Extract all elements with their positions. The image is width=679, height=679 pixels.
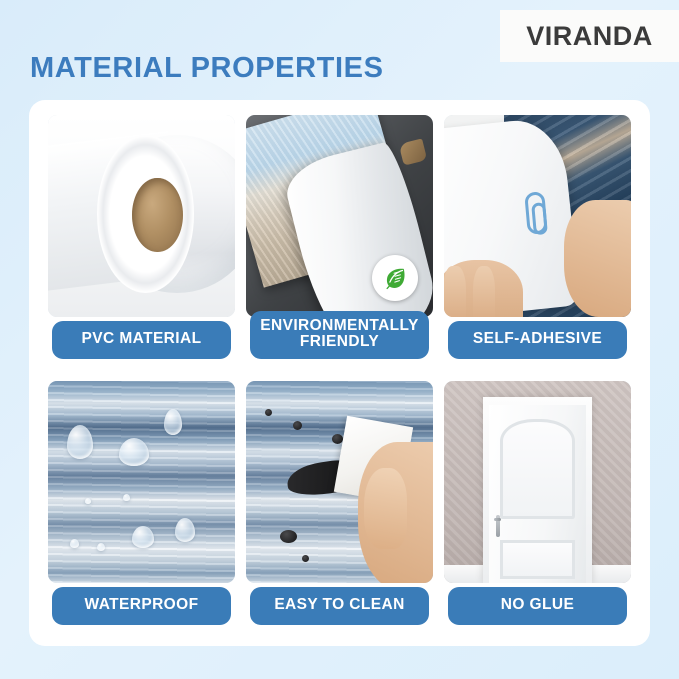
self-adhesive-image bbox=[444, 115, 631, 317]
water-drop bbox=[119, 438, 149, 466]
easy-clean-image bbox=[246, 381, 433, 583]
door-panel-bottom bbox=[500, 540, 574, 579]
page-title: MATERIAL PROPERTIES bbox=[30, 52, 384, 85]
door-leaf bbox=[489, 405, 587, 583]
pvc-roll-image bbox=[48, 115, 235, 317]
feature-card: SELF-ADHESIVE bbox=[444, 115, 631, 365]
feature-card: WATERPROOF bbox=[48, 381, 235, 631]
adhesive-peel-art bbox=[444, 115, 631, 317]
water-drop bbox=[123, 494, 130, 501]
stain-dot bbox=[332, 434, 343, 444]
feature-card: ENVIRONMENTALLY FRIENDLY bbox=[246, 115, 433, 365]
stain-dot bbox=[265, 409, 272, 416]
water-drop bbox=[97, 543, 105, 551]
door-panel-top bbox=[500, 419, 574, 519]
feature-label: WATERPROOF bbox=[52, 587, 231, 625]
pvc-roll-art bbox=[48, 115, 235, 317]
water-drop bbox=[164, 409, 182, 435]
stain-dot bbox=[293, 421, 302, 430]
feature-label: SELF-ADHESIVE bbox=[448, 321, 627, 359]
feature-label: ENVIRONMENTALLY FRIENDLY bbox=[250, 311, 429, 359]
peeling-print-art bbox=[246, 115, 433, 317]
water-drop bbox=[70, 539, 79, 548]
brand-logo: VIRANDA bbox=[500, 10, 679, 62]
hand bbox=[358, 442, 433, 583]
wiping-art bbox=[246, 381, 433, 583]
feature-card: PVC MATERIAL bbox=[48, 115, 235, 365]
right-hand bbox=[564, 200, 631, 317]
water-drop bbox=[67, 425, 93, 459]
water-drop bbox=[132, 526, 154, 548]
eco-badge bbox=[372, 255, 418, 301]
stain-dot bbox=[302, 555, 309, 562]
feature-label: EASY TO CLEAN bbox=[250, 587, 429, 625]
water-droplets-art bbox=[48, 381, 235, 583]
eco-peel-image bbox=[246, 115, 433, 317]
feature-panel: PVC MATERIAL bbox=[29, 100, 650, 646]
roll-core bbox=[132, 178, 182, 253]
waterproof-image bbox=[48, 381, 235, 583]
door-art bbox=[444, 381, 631, 583]
feature-grid: PVC MATERIAL bbox=[48, 115, 631, 631]
feature-card: EASY TO CLEAN bbox=[246, 381, 433, 631]
door-handle bbox=[496, 515, 501, 536]
infographic-root: VIRANDA MATERIAL PROPERTIES PVC MATERIAL bbox=[0, 0, 679, 679]
stain-dot bbox=[280, 530, 297, 543]
water-drop bbox=[175, 518, 195, 542]
feature-label: PVC MATERIAL bbox=[52, 321, 231, 359]
brand-name: VIRANDA bbox=[526, 21, 653, 52]
left-hand bbox=[444, 260, 523, 317]
door-frame bbox=[483, 397, 591, 583]
feature-label: NO GLUE bbox=[448, 587, 627, 625]
water-drop bbox=[85, 498, 91, 504]
leaf-icon bbox=[381, 264, 409, 292]
curl-tip bbox=[399, 139, 428, 166]
feature-card: NO GLUE bbox=[444, 381, 631, 631]
no-glue-image bbox=[444, 381, 631, 583]
